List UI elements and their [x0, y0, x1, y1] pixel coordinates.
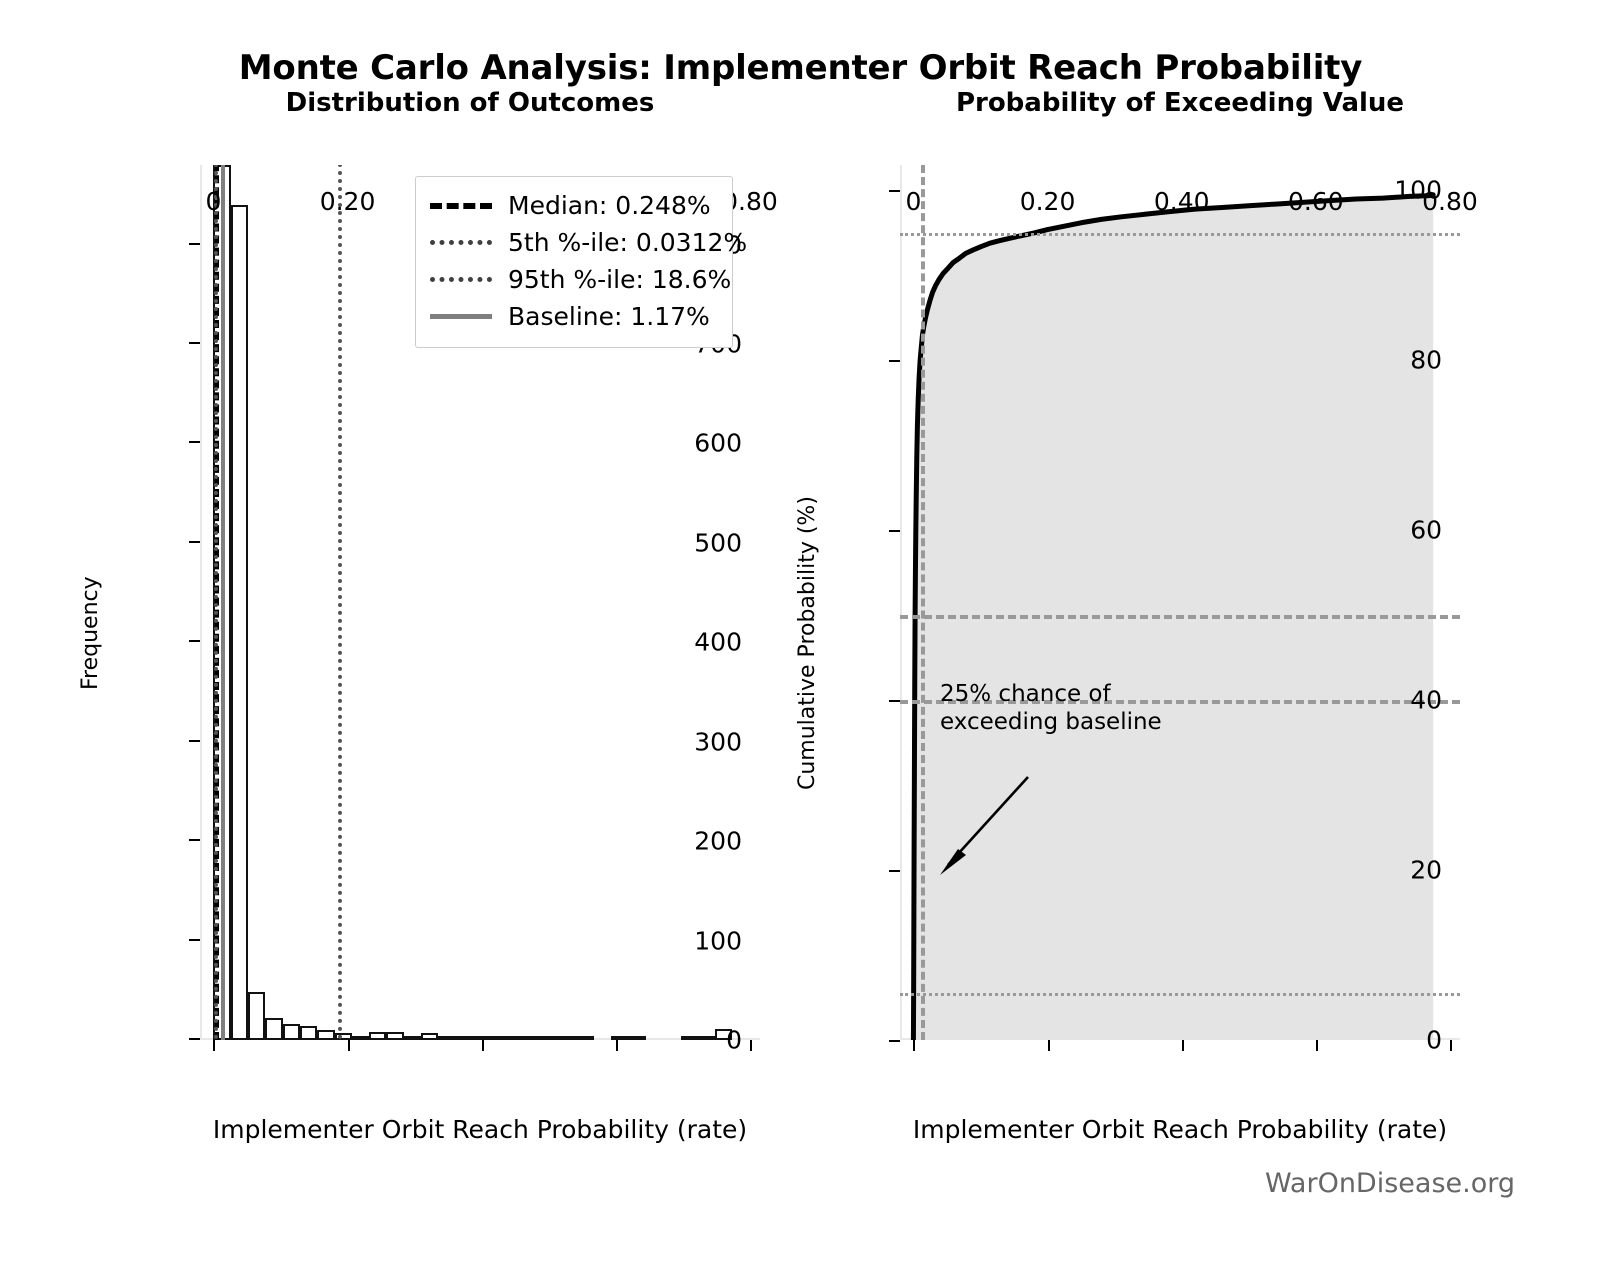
histogram-legend: Median: 0.248%5th %-ile: 0.0312%95th %-i…	[415, 176, 733, 348]
histogram-bar	[404, 1036, 421, 1040]
x-tick-label: 0.20	[320, 187, 376, 216]
histogram-bar	[611, 1036, 628, 1040]
histogram-bar	[352, 1036, 369, 1040]
footer-watermark: WarOnDisease.org	[1265, 1168, 1515, 1199]
x-tick-mark	[616, 1040, 618, 1051]
figure-suptitle: Monte Carlo Analysis: Implementer Orbit …	[0, 48, 1601, 88]
legend-entry: 5th %-ile: 0.0312%	[430, 224, 716, 261]
legend-label: 95th %-ile: 18.6%	[508, 267, 731, 292]
baseline-line	[221, 165, 225, 1040]
x-tick-mark	[1316, 1040, 1318, 1051]
histogram-bar	[559, 1036, 576, 1040]
x-tick-label: 0	[205, 187, 221, 216]
y-tick-label: 600	[694, 429, 742, 458]
y-tick-label: 40	[1410, 686, 1442, 715]
legend-label: Median: 0.248%	[508, 193, 711, 218]
y-tick-mark	[889, 700, 900, 702]
y-tick-label: 60	[1410, 516, 1442, 545]
y-tick-label: 0	[726, 1026, 742, 1055]
histogram-bar	[629, 1036, 646, 1040]
y-tick-mark	[189, 740, 200, 742]
y-tick-mark	[889, 190, 900, 192]
histogram-bar	[508, 1036, 525, 1040]
histogram-bar	[300, 1026, 317, 1040]
y-tick-label: 300	[694, 727, 742, 756]
baseline-vline	[921, 165, 925, 1040]
histogram-bar	[231, 205, 248, 1040]
y-tick-label: 400	[694, 628, 742, 657]
histogram-bar	[386, 1032, 403, 1040]
y-tick-mark	[889, 360, 900, 362]
histogram-bar	[438, 1036, 455, 1040]
legend-entry: 95th %-ile: 18.6%	[430, 261, 716, 298]
histogram-bar	[542, 1036, 559, 1040]
x-tick-label: 0	[905, 187, 921, 216]
y-tick-label: 200	[694, 827, 742, 856]
right-xaxis-label: Implementer Orbit Reach Probability (rat…	[870, 1115, 1490, 1144]
cdf-curve-svg	[900, 165, 1460, 1040]
legend-line-swatch	[430, 314, 492, 319]
legend-line-swatch	[430, 277, 492, 282]
y-tick-label: 80	[1410, 346, 1442, 375]
p5-line	[214, 165, 218, 1040]
legend-label: Baseline: 1.17%	[508, 304, 710, 329]
histogram-bar	[369, 1032, 386, 1040]
histogram-bar	[317, 1030, 334, 1040]
x-tick-label: 0.60	[1288, 187, 1344, 216]
histogram-bar	[681, 1036, 698, 1040]
y-tick-label: 500	[694, 528, 742, 557]
cdf-plot-area	[900, 165, 1460, 1040]
cdf-axes: 02040608010000.200.400.600.80 25% chance…	[900, 165, 1460, 1040]
y-tick-mark	[189, 441, 200, 443]
p95-line	[338, 165, 342, 1040]
figure-canvas: Monte Carlo Analysis: Implementer Orbit …	[0, 0, 1601, 1280]
histogram-bar	[248, 992, 265, 1040]
histogram-bar	[698, 1036, 715, 1040]
x-tick-mark	[482, 1040, 484, 1051]
y-tick-mark	[189, 640, 200, 642]
x-tick-label: 0.20	[1020, 187, 1076, 216]
y-tick-mark	[189, 541, 200, 543]
legend-entry: Baseline: 1.17%	[430, 298, 716, 335]
left-xaxis-label: Implementer Orbit Reach Probability (rat…	[170, 1115, 790, 1144]
left-yaxis-label: Frequency	[78, 576, 103, 690]
histogram-bar	[421, 1033, 438, 1040]
histogram-bar	[577, 1036, 594, 1040]
x-tick-mark	[213, 1040, 215, 1051]
right-panel-subtitle: Probability of Exceeding Value	[870, 88, 1490, 118]
x-tick-mark	[913, 1040, 915, 1051]
p5-hline	[900, 993, 1460, 996]
y-tick-mark	[189, 839, 200, 841]
histogram-bar	[490, 1036, 507, 1040]
y-tick-mark	[189, 1038, 200, 1040]
right-yaxis-label: Cumulative Probability (%)	[795, 496, 820, 790]
legend-label: 5th %-ile: 0.0312%	[508, 230, 747, 255]
cdf-callout-text: 25% chance of exceeding baseline	[940, 680, 1185, 736]
histogram-bar	[335, 1033, 352, 1040]
x-tick-label: 0.80	[1422, 187, 1478, 216]
y-tick-label: 0	[1426, 1026, 1442, 1055]
y-tick-mark	[889, 1040, 900, 1042]
median-hline	[900, 615, 1460, 619]
legend-line-swatch	[430, 240, 492, 245]
x-tick-mark	[1048, 1040, 1050, 1051]
histogram-bar	[456, 1036, 473, 1040]
legend-line-swatch	[430, 203, 492, 209]
histogram-bar	[265, 1018, 282, 1040]
histogram-bar	[283, 1024, 300, 1040]
x-tick-mark	[1450, 1040, 1452, 1051]
y-tick-label: 100	[694, 926, 742, 955]
x-tick-mark	[348, 1040, 350, 1051]
y-tick-mark	[189, 342, 200, 344]
x-tick-mark	[1182, 1040, 1184, 1051]
y-tick-mark	[189, 939, 200, 941]
y-tick-mark	[889, 530, 900, 532]
x-tick-label: 0.40	[1154, 187, 1210, 216]
x-tick-mark	[750, 1040, 752, 1051]
legend-entry: Median: 0.248%	[430, 187, 716, 224]
left-panel-subtitle: Distribution of Outcomes	[160, 88, 780, 118]
y-tick-label: 20	[1410, 856, 1442, 885]
histogram-bar	[525, 1036, 542, 1040]
y-tick-mark	[189, 243, 200, 245]
p95-hline	[900, 233, 1460, 236]
y-tick-mark	[889, 870, 900, 872]
